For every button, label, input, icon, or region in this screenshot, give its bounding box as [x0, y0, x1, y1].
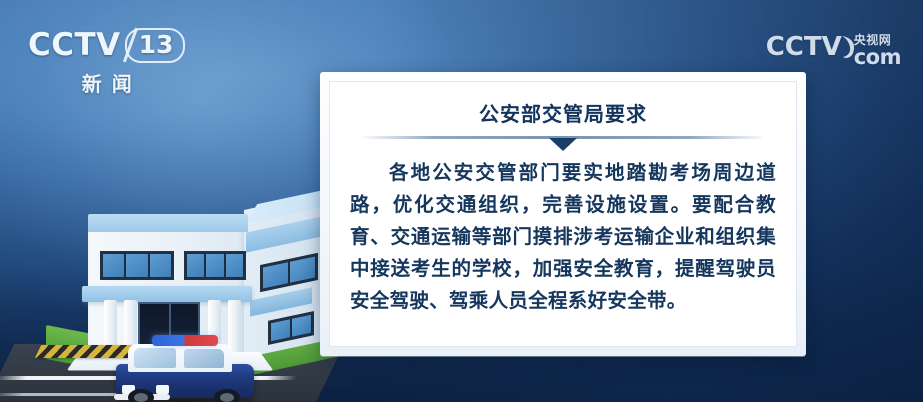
slash-icon: [123, 28, 138, 63]
chevron-down-icon: [549, 138, 577, 151]
window-pane: [271, 319, 290, 341]
info-card: 公安部交管局要求 各地公安交管部门要实地踏勘考场周边道路，优化交通组织，完善设施…: [320, 72, 806, 356]
watermark-tld: com: [854, 47, 901, 68]
window-group-left: [100, 251, 174, 280]
building-roof-front: [88, 214, 248, 232]
channel-logo-row: CCTV 13: [28, 28, 185, 63]
watermark-brand: CCTV: [766, 34, 842, 60]
channel-name: 新闻: [72, 68, 142, 97]
window-pane: [290, 256, 315, 282]
window-pane: [103, 254, 124, 277]
cctv-com-watermark: CCTV 央视网 com: [766, 34, 901, 68]
window-pane: [206, 254, 223, 277]
window-pane: [187, 254, 204, 277]
card-title: 公安部交管局要求: [329, 81, 797, 127]
title-divider: [363, 136, 763, 139]
car-headlight: [156, 385, 169, 394]
window-pane: [263, 262, 288, 288]
car-wheel: [128, 389, 154, 402]
info-card-inner: 公安部交管局要求 各地公安交管部门要实地踏勘考场周边道路，优化交通组织，完善设施…: [329, 81, 797, 347]
car-side-window: [184, 349, 224, 368]
window-group-right: [184, 251, 246, 280]
car-windshield: [134, 348, 176, 368]
police-car: [110, 332, 262, 402]
window-pane: [150, 254, 171, 277]
car-lightbar-icon: [152, 335, 218, 346]
window-pane: [226, 254, 243, 277]
broadcast-frame: CCTV 13 新闻 CCTV 央视网 com 公安部交管局要求 各地公安交管部…: [0, 0, 923, 402]
window-pane: [292, 315, 311, 337]
police-station-illustration: [46, 158, 346, 402]
channel-number: 13: [139, 30, 174, 59]
channel-logo: CCTV 13 新闻: [28, 28, 185, 97]
card-body-text: 各地公安交管部门要实地踏勘考场周边道路，优化交通组织，完善设施设置。要配合教育、…: [350, 157, 776, 317]
window-pane: [126, 254, 147, 277]
channel-number-badge: 13: [125, 28, 186, 63]
cctv-wordmark: CCTV: [28, 30, 121, 61]
watermark-right: 央视网 com: [854, 34, 901, 68]
car-wheel: [214, 389, 240, 402]
